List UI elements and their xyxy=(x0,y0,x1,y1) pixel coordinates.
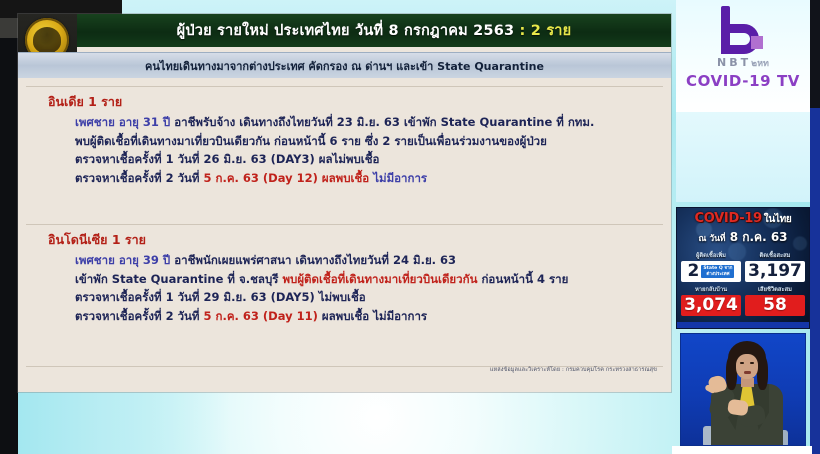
covid-stats-panel: COVID-19ในไทย ณ วันที่ 8 ก.ค. 63 ผู้ติดเ… xyxy=(676,207,810,329)
case-detail-line: ตรวจหาเชื้อครั้งที่ 2 วันที่ 5 ก.ค. 63 (… xyxy=(75,173,671,185)
case-text-segment: 5 ก.ค. 63 (Day 11) xyxy=(204,309,322,323)
presentation-slide: COVID-19 ผู้ป่วย รายใหม่ ประเทศไทย วันที… xyxy=(18,14,671,392)
case-block-title: อินเดีย 1 ราย xyxy=(48,92,671,112)
stats-title-suffix: ในไทย xyxy=(764,214,792,225)
stat-value-box: 2State Q จากต่างประเทศ xyxy=(681,261,741,282)
nbt-logo-dot xyxy=(751,36,763,49)
program-label: COVID-19 TV xyxy=(686,72,800,90)
interpreter-neck xyxy=(741,378,754,387)
case-text-segment: อาชีพนักเผยแพร่ศาสนา เดินทางถึงไทยวันที่… xyxy=(174,253,456,267)
slide-header-count: : 2 ราย xyxy=(520,23,572,39)
source-attribution: แหล่งข้อมูลและวิเคราะห์โดย : กรมควบคุมโร… xyxy=(490,366,657,374)
slide-header-bar: ผู้ป่วย รายใหม่ ประเทศไทย วันที่ 8 กรกฎา… xyxy=(77,14,671,47)
stat-value: 3,197 xyxy=(748,263,802,280)
case-detail-line: เข้าพัก State Quarantine ที่ จ.ชลบุรี พบ… xyxy=(75,274,671,286)
stats-row: หายกลับบ้าน3,074เสียชีวิตสะสม58 xyxy=(681,284,805,316)
interpreter-base-strip xyxy=(672,446,812,454)
interpreter-face xyxy=(736,354,758,379)
stat-value: 3,074 xyxy=(684,297,738,314)
case-detail-line: พบผู้ติดเชื้อที่เดินทางมาเที่ยวบินเดียวก… xyxy=(75,136,671,148)
case-text-segment: ตรวจหาเชื้อครั้งที่ 1 วันที่ 26 มิ.ย. 63… xyxy=(75,152,379,166)
case-text-segment: ตรวจหาเชื้อครั้งที่ 1 วันที่ 29 มิ.ย. 63… xyxy=(75,290,366,304)
stats-panel-footer-bar xyxy=(677,322,809,328)
broadcast-screen: COVID-19 ผู้ป่วย รายใหม่ ประเทศไทย วันที… xyxy=(0,0,820,454)
sign-language-interpreter-video xyxy=(680,333,806,446)
stats-date-value: 8 ก.ค. 63 xyxy=(730,230,788,244)
stat-label: เสียชีวิตสะสม xyxy=(745,284,805,294)
right-blue-pillar xyxy=(810,108,820,454)
stat-cell: ติดเชื้อสะสม3,197 xyxy=(745,250,805,282)
nbt-logo-icon xyxy=(713,6,773,58)
case-detail-line: ตรวจหาเชื้อครั้งที่ 2 วันที่ 5 ก.ค. 63 (… xyxy=(75,311,671,323)
stat-value-box: 58 xyxy=(745,295,805,316)
case-text-segment: ตรวจหาเชื้อครั้งที่ 2 วันที่ xyxy=(75,171,204,185)
case-text-segment: พบผู้ติดเชื้อที่เดินทางมาเที่ยวบินเดียวก… xyxy=(75,134,547,148)
right-rail-spacer xyxy=(676,112,810,202)
case-text-segment: เพศชาย อายุ 39 ปี xyxy=(75,253,174,267)
stat-value: 2 xyxy=(688,263,700,280)
case-text-segment: อาชีพรับจ้าง เดินทางถึงไทยวันที่ 23 มิ.ย… xyxy=(174,115,594,129)
stat-label: ติดเชื้อสะสม xyxy=(745,250,805,260)
nbt-wordmark-thai: ๒หท xyxy=(751,59,769,69)
stat-cell: หายกลับบ้าน3,074 xyxy=(681,284,741,316)
nbt-wordmark: NBT๒หท xyxy=(717,56,769,70)
stats-grid: ผู้ติดเชื้อเพิ่ม2State Q จากต่างประเทศติ… xyxy=(677,250,809,316)
case-detail-line: ตรวจหาเชื้อครั้งที่ 1 วันที่ 26 มิ.ย. 63… xyxy=(75,154,671,166)
interpreter-mouth xyxy=(744,371,751,374)
interpreter-eye-left xyxy=(740,362,744,364)
channel-logo-zone: NBT๒หท COVID-19 TV xyxy=(676,0,810,112)
slide-header-title: ผู้ป่วย รายใหม่ ประเทศไทย วันที่ 8 กรกฎา… xyxy=(177,23,515,39)
slide-divider xyxy=(26,86,663,87)
slide-header-text: ผู้ป่วย รายใหม่ ประเทศไทย วันที่ 8 กรกฎา… xyxy=(177,19,572,42)
left-black-pillar xyxy=(0,0,18,454)
interpreter-hair-left xyxy=(726,356,737,390)
stats-panel-title: COVID-19ในไทย xyxy=(677,211,809,227)
stat-value-box: 3,074 xyxy=(681,295,741,316)
stat-value-tag: State Q จากต่างประเทศ xyxy=(701,265,734,278)
stat-value: 58 xyxy=(763,297,787,314)
case-text-segment: เข้าพัก State Quarantine ที่ จ.ชลบุรี xyxy=(75,272,282,286)
case-text-segment: พบผู้ติดเชื้อที่เดินทางมาเที่ยวบินเดียวก… xyxy=(282,272,477,286)
interpreter-eye-right xyxy=(750,362,754,364)
case-block: อินโดนีเซีย 1 รายเพศชาย อายุ 39 ปี อาชีพ… xyxy=(18,230,671,329)
case-text-segment: ไม่มีอาการ xyxy=(369,171,427,185)
stat-label: หายกลับบ้าน xyxy=(681,284,741,294)
case-text-segment: เพศชาย อายุ 31 ปี xyxy=(75,115,174,129)
stat-value-box: 3,197 xyxy=(745,261,805,282)
stats-title-main: COVID-19 xyxy=(695,211,762,226)
case-detail-line: เพศชาย อายุ 31 ปี อาชีพรับจ้าง เดินทางถึ… xyxy=(75,117,671,129)
slide-subheader-bar: คนไทยเดินทางมาจากต่างประเทศ คัดกรอง ณ ด่… xyxy=(18,52,671,80)
case-detail-line: ตรวจหาเชื้อครั้งที่ 1 วันที่ 29 มิ.ย. 63… xyxy=(75,292,671,304)
case-text-segment: ตรวจหาเชื้อครั้งที่ 2 วันที่ xyxy=(75,309,204,323)
case-text-segment: ก่อนหน้านี้ 4 ราย xyxy=(477,272,568,286)
case-text-segment: 5 ก.ค. 63 (Day 12) ผลพบเชื้อ xyxy=(204,171,370,185)
slide-subheader-text: คนไทยเดินทางมาจากต่างประเทศ คัดกรอง ณ ด่… xyxy=(145,57,544,75)
stats-date-prefix: ณ วันที่ xyxy=(698,234,725,244)
interpreter-hand-right xyxy=(727,399,749,417)
case-block-title: อินโดนีเซีย 1 ราย xyxy=(48,230,671,250)
stat-cell: ผู้ติดเชื้อเพิ่ม2State Q จากต่างประเทศ xyxy=(681,250,741,282)
case-text-segment: ผลพบเชื้อ ไม่มีอาการ xyxy=(322,309,427,323)
case-detail-line: เพศชาย อายุ 39 ปี อาชีพนักเผยแพร่ศาสนา เ… xyxy=(75,255,671,267)
stats-row: ผู้ติดเชื้อเพิ่ม2State Q จากต่างประเทศติ… xyxy=(681,250,805,282)
stat-label: ผู้ติดเชื้อเพิ่ม xyxy=(681,250,741,260)
stats-panel-date: ณ วันที่ 8 ก.ค. 63 xyxy=(677,228,809,247)
interpreter-hair-right xyxy=(757,356,768,390)
slide-body: อินเดีย 1 รายเพศชาย อายุ 31 ปี อาชีพรับจ… xyxy=(18,78,671,378)
case-block: อินเดีย 1 รายเพศชาย อายุ 31 ปี อาชีพรับจ… xyxy=(18,92,671,191)
stat-cell: เสียชีวิตสะสม58 xyxy=(745,284,805,316)
slide-divider xyxy=(26,224,663,225)
